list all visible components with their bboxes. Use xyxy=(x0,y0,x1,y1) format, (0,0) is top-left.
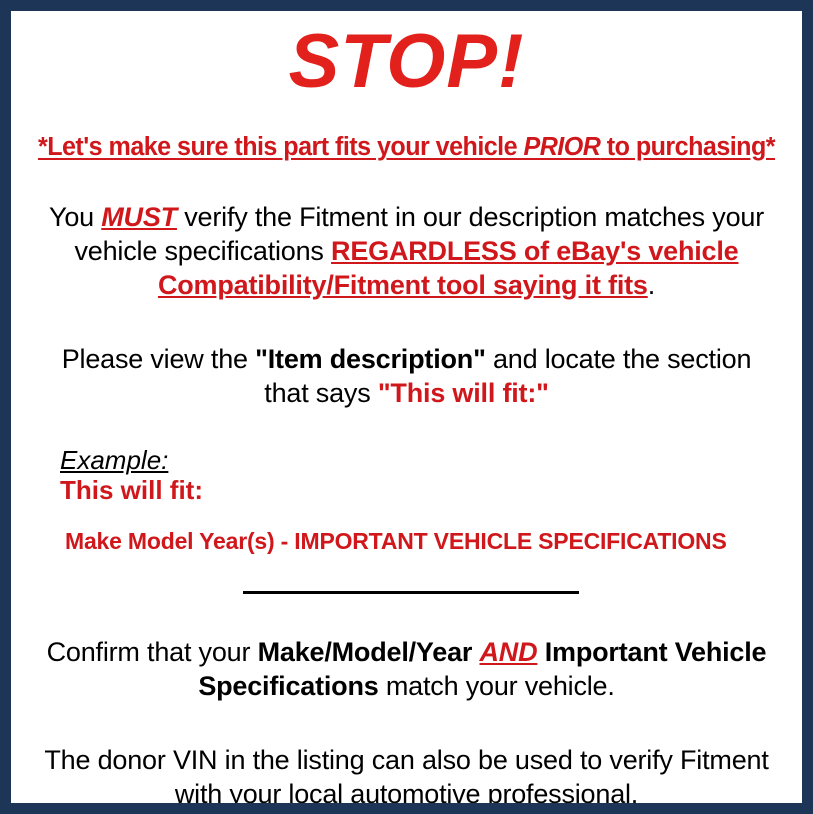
confirm-paragraph: Confirm that your Make/Model/Year AND Im… xyxy=(17,635,796,703)
notice-content: STOP! *Let's make sure this part fits yo… xyxy=(11,24,802,814)
example-this-will-fit: This will fit: xyxy=(60,476,796,505)
view-text-part1: Please view the xyxy=(62,344,255,374)
tagline-text-after: to purchasing* xyxy=(600,133,775,161)
confirm-text-part1: Confirm that your xyxy=(47,637,258,667)
example-spec-line: Make Model Year(s) - IMPORTANT VEHICLE S… xyxy=(60,528,796,555)
must-text-part3: . xyxy=(648,270,655,300)
confirm-make-model-year: Make/Model/Year xyxy=(258,637,480,667)
fitment-notice-panel: STOP! *Let's make sure this part fits yo… xyxy=(0,0,813,814)
must-emphasis: MUST xyxy=(101,202,177,232)
confirm-text-part2: match your vehicle. xyxy=(379,671,615,701)
donor-vin-paragraph: The donor VIN in the listing can also be… xyxy=(17,743,796,811)
tagline-text-before: *Let's make sure this part fits your veh… xyxy=(38,133,524,161)
example-block: Example: This will fit: Make Model Year(… xyxy=(17,446,796,555)
item-description-paragraph: Please view the "Item description" and l… xyxy=(17,342,796,410)
item-description-label: "Item description" xyxy=(255,344,486,374)
this-will-fit-quote: "This will fit:" xyxy=(378,378,549,408)
stop-headline: STOP! xyxy=(17,24,796,100)
must-text-part1: You xyxy=(49,202,101,232)
divider-row xyxy=(17,581,796,599)
must-verify-paragraph: You MUST verify the Fitment in our descr… xyxy=(17,200,796,302)
fitment-tagline: *Let's make sure this part fits your veh… xyxy=(23,133,790,161)
confirm-and-emphasis: AND xyxy=(480,637,538,667)
example-label-row: Example: xyxy=(60,446,796,474)
horizontal-rule-icon xyxy=(243,591,579,594)
example-label: Example: xyxy=(60,446,168,474)
tagline-emphasis-prior: PRIOR xyxy=(523,133,600,161)
